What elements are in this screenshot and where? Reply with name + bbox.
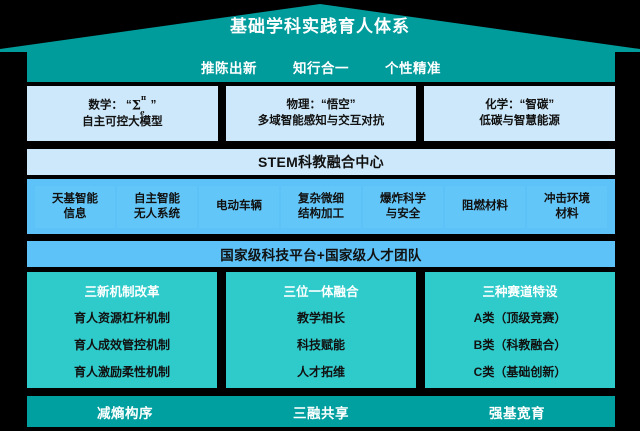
pillar-3-item-2: B类（科教融合） bbox=[474, 336, 567, 353]
pillar-1-header: 三新机制改革 bbox=[84, 281, 159, 300]
motto-item-1: 推陈出新 bbox=[201, 57, 257, 77]
page-title: 基础学科实践育人体系 bbox=[0, 12, 640, 37]
foundation-band: 减熵构序 三融共享 强基宽育 bbox=[27, 396, 615, 427]
platform-tile-1-line1: 天基智能 bbox=[52, 193, 98, 205]
platform-tile-1: 天基智能 信息 bbox=[35, 186, 115, 228]
platform-tile-2: 自主智能 无人系统 bbox=[117, 186, 197, 228]
pillar-2-item-1: 教学相长 bbox=[297, 309, 345, 326]
pillar-1-item-1: 育人资源杠杆机制 bbox=[74, 309, 170, 326]
motto-item-3: 个性精准 bbox=[385, 57, 441, 77]
subject-chemistry-line1: 化学：“智碳” bbox=[485, 98, 554, 114]
quote-close: ” bbox=[151, 99, 157, 111]
platform-tile-5: 爆炸科学 与安全 bbox=[363, 186, 443, 228]
subject-physics-line1: 物理：“悟空” bbox=[287, 98, 356, 114]
platform-tile-1-label: 天基智能 信息 bbox=[52, 192, 98, 222]
platform-tile-4-line1: 复杂微细 bbox=[298, 193, 344, 205]
subject-card-math: 数学： “Σπe” 自主可控大模型 bbox=[27, 86, 218, 141]
motto-row: 推陈出新 知行合一 个性精准 bbox=[27, 52, 615, 82]
pillar-trinity-integration: 三位一体融合 教学相长 科技赋能 人才拓维 bbox=[226, 272, 416, 388]
foundation-item-1: 减熵构序 bbox=[27, 402, 223, 422]
platform-tile-2-label: 自主智能 无人系统 bbox=[134, 192, 180, 222]
platform-tile-2-line1: 自主智能 bbox=[134, 193, 180, 205]
pillar-2-header: 三位一体融合 bbox=[283, 281, 358, 300]
platform-tile-4-label: 复杂微细 结构加工 bbox=[298, 192, 344, 222]
subject-card-physics: 物理：“悟空” 多域智能感知与交互对抗 bbox=[226, 86, 417, 141]
sigma-symbol: Σπe bbox=[132, 97, 151, 115]
subject-math-line2: 自主可控大模型 bbox=[82, 115, 163, 131]
pillar-three-tracks: 三种赛道特设 A类（顶级竞赛） B类（科教融合） C类（基础创新） bbox=[425, 272, 615, 388]
foundation-item-3: 强基宽育 bbox=[419, 402, 615, 422]
sigma-superscript: π bbox=[141, 93, 146, 102]
subject-cards-row: 数学： “Σπe” 自主可控大模型 物理：“悟空” 多域智能感知与交互对抗 化学… bbox=[27, 86, 615, 141]
platform-tiles-row: 天基智能 信息 自主智能 无人系统 电动车辆 复杂微细 结构加工 爆炸科学 与安… bbox=[27, 179, 615, 234]
pillars-row: 三新机制改革 育人资源杠杆机制 育人成效管控机制 育人激励柔性机制 三位一体融合… bbox=[27, 272, 615, 388]
subject-math-line1: 数学： “Σπe” bbox=[88, 97, 156, 115]
platform-tile-3-label: 电动车辆 bbox=[216, 199, 262, 214]
platform-tile-7-line1: 冲击环境 bbox=[544, 193, 590, 205]
platform-tile-4-line2: 结构加工 bbox=[298, 208, 344, 220]
platform-tile-1-line2: 信息 bbox=[64, 208, 87, 220]
platform-tile-6-label: 阻燃材料 bbox=[462, 199, 508, 214]
national-platform-title: 国家级科技平台+国家级人才团队 bbox=[220, 244, 421, 264]
platform-tile-4: 复杂微细 结构加工 bbox=[281, 186, 361, 228]
pillar-2-item-2: 科技赋能 bbox=[297, 336, 345, 353]
national-platform-band: 国家级科技平台+国家级人才团队 bbox=[27, 241, 615, 267]
platform-tile-5-line1: 爆炸科学 bbox=[380, 193, 426, 205]
pillar-1-item-2: 育人成效管控机制 bbox=[74, 336, 170, 353]
platform-tile-5-line2: 与安全 bbox=[386, 208, 421, 220]
pillar-2-item-3: 人才拓维 bbox=[297, 363, 345, 380]
platform-tile-7-label: 冲击环境 材料 bbox=[544, 192, 590, 222]
pillar-mechanism-reform: 三新机制改革 育人资源杠杆机制 育人成效管控机制 育人激励柔性机制 bbox=[27, 272, 217, 388]
platform-tile-5-label: 爆炸科学 与安全 bbox=[380, 192, 426, 222]
pillar-1-item-3: 育人激励柔性机制 bbox=[74, 363, 170, 380]
platform-tile-7: 冲击环境 材料 bbox=[527, 186, 607, 228]
subject-physics-line2: 多域智能感知与交互对抗 bbox=[258, 114, 385, 130]
motto-item-2: 知行合一 bbox=[293, 57, 349, 77]
stem-title: STEM科教融合中心 bbox=[258, 152, 384, 172]
subject-chemistry-line2: 低碳与智慧能源 bbox=[479, 114, 560, 130]
platform-tile-7-line2: 材料 bbox=[556, 208, 579, 220]
stem-band: STEM科教融合中心 bbox=[27, 149, 615, 175]
pillar-3-item-3: C类（基础创新） bbox=[474, 363, 567, 380]
subject-card-chemistry: 化学：“智碳” 低碳与智慧能源 bbox=[424, 86, 615, 141]
sigma-subscript: e bbox=[140, 108, 144, 117]
platform-tile-2-line2: 无人系统 bbox=[134, 208, 180, 220]
roof: 基础学科实践育人体系 bbox=[0, 0, 640, 52]
pillar-3-header: 三种赛道特设 bbox=[482, 281, 557, 300]
platform-tile-3: 电动车辆 bbox=[199, 186, 279, 228]
subject-math-prefix: 数学： bbox=[88, 99, 123, 111]
motto-band: 推陈出新 知行合一 个性精准 bbox=[27, 52, 615, 82]
house-diagram: 基础学科实践育人体系 推陈出新 知行合一 个性精准 数学： “Σπe” 自主可控… bbox=[0, 0, 640, 431]
platform-tile-6: 阻燃材料 bbox=[445, 186, 525, 228]
foundation-item-2: 三融共享 bbox=[223, 402, 419, 422]
pillar-3-item-1: A类（顶级竞赛） bbox=[474, 309, 567, 326]
